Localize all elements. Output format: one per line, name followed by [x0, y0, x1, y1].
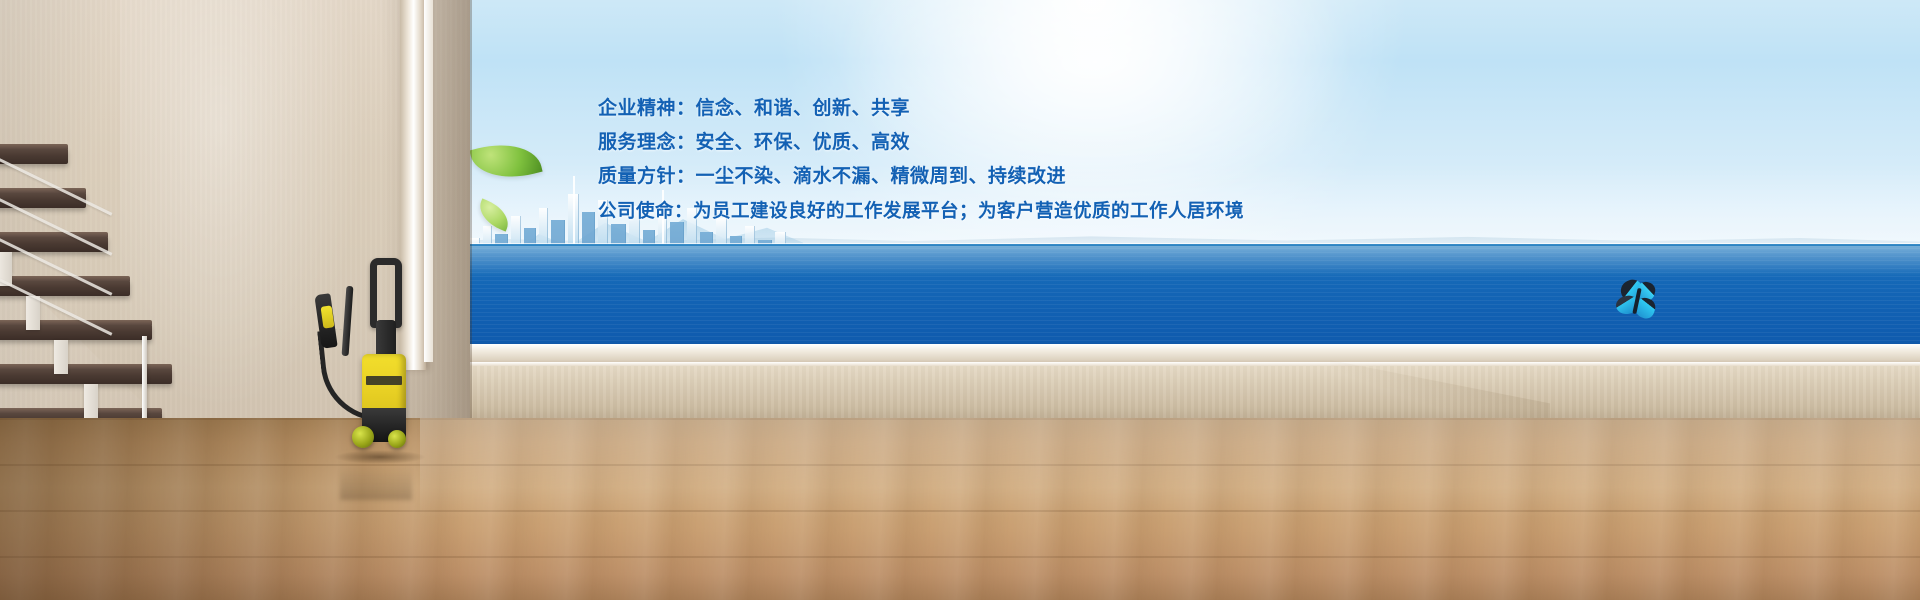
wall-ledge	[400, 362, 1920, 426]
banner-stage: 企业精神：信念、和谐、创新、共享 服务理念：安全、环保、优质、高效 质量方针：一…	[0, 0, 1920, 600]
stair-step	[0, 324, 152, 340]
stair-riser	[54, 340, 68, 374]
mission-line-4: 公司使命：为员工建设良好的工作发展平台；为客户营造优质的工作人居环境	[598, 194, 1358, 228]
washer-label	[366, 376, 402, 385]
washer-handle	[370, 258, 402, 328]
mission-text-block: 企业精神：信念、和谐、创新、共享 服务理念：安全、环保、优质、高效 质量方针：一…	[598, 92, 1358, 228]
blue-butterfly	[1613, 278, 1659, 322]
sea-shimmer	[413, 246, 1920, 276]
washer-wheel	[352, 426, 374, 448]
mission-line-1: 企业精神：信念、和谐、创新、共享	[598, 92, 1358, 126]
mural-frame-left-inner	[424, 0, 433, 362]
mission-line-2: 服务理念：安全、环保、优质、高效	[598, 126, 1358, 160]
high-pressure-washer	[316, 258, 424, 460]
stair-riser	[26, 296, 40, 330]
mission-line-3: 质量方针：一尘不染、滴水不漏、精微周到、持续改进	[598, 160, 1358, 194]
stair-riser	[84, 384, 98, 418]
stair-step	[0, 148, 68, 164]
washer-wheel	[388, 430, 406, 448]
wall-ledge-edge	[400, 362, 1920, 366]
washer-reflection	[340, 460, 412, 500]
